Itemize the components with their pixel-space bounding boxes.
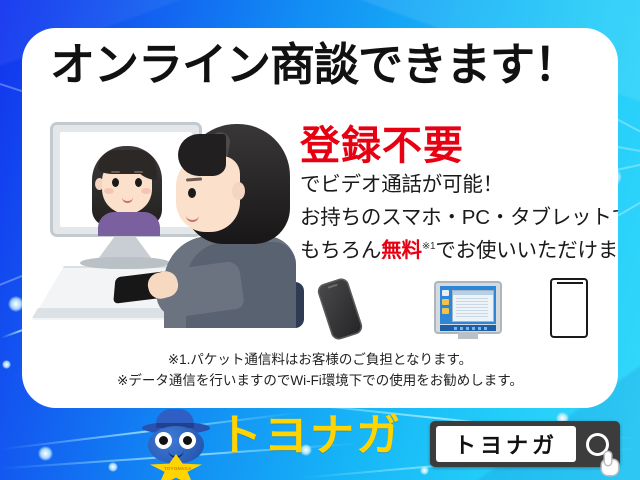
man-eye: [188, 188, 196, 198]
promo-highlight: 登録不要: [300, 124, 614, 168]
monitor-base: [80, 257, 170, 269]
promo-line-3-suffix: でお使いいただけます！: [435, 239, 618, 262]
mouse-cursor-icon: [600, 452, 620, 476]
promo-free-label: 無料: [381, 239, 422, 262]
search-input[interactable]: トヨナガ: [436, 426, 576, 462]
man-side-hair: [178, 134, 226, 176]
woman-eyebrow-left: [111, 171, 120, 173]
brand-logo-text: トヨナガ: [218, 414, 402, 458]
footnote-2: ※データ通信を行いますのでWi-Fi環境下での使用をお勧めします。: [22, 371, 618, 392]
device-icons-row: [314, 278, 604, 340]
promo-line-1: でビデオ通話が可能！: [300, 168, 614, 201]
pc-window-content: [456, 298, 488, 318]
woman-eyebrow-right: [134, 171, 143, 173]
pc-window-titlebar: [453, 291, 493, 295]
mascot-pupil-right: [183, 436, 192, 445]
woman-blush-left: [104, 188, 114, 194]
woman-eye-right: [135, 178, 142, 187]
smartphone-icon: [316, 276, 364, 341]
search-bar[interactable]: トヨナガ: [430, 421, 620, 467]
advertisement-banner: オンライン商談できます！: [0, 0, 640, 480]
pc-window: [452, 290, 494, 322]
page-title: オンライン商談できます！: [50, 42, 606, 87]
mascot-body-label: TOYONAGA: [164, 466, 192, 471]
pc-desktop-icon-3: [442, 308, 449, 314]
woman-torso: [98, 212, 160, 236]
woman-blush-right: [141, 188, 151, 194]
promo-footnote-marker: ※1: [422, 242, 436, 253]
video-call-illustration: [36, 116, 298, 328]
pc-desktop-icon-1: [442, 290, 449, 296]
footnotes: ※1.パケット通信料はお客様のご負担となります。 ※データ通信を行いますのでWi…: [22, 350, 618, 392]
woman-eye-left: [112, 178, 119, 187]
promo-text-block: 登録不要 でビデオ通話が可能！ お持ちのスマホ・PC・タブレットでOK もちろん…: [300, 124, 614, 268]
footnote-1: ※1.パケット通信料はお客様のご負担となります。: [22, 350, 618, 371]
monitor-stand: [98, 237, 152, 259]
cursor-finger: [605, 452, 611, 465]
tablet-icon: [550, 278, 588, 338]
pc-taskbar: [440, 325, 496, 331]
background-dot: [2, 360, 11, 369]
promo-line-3: もちろん無料※1でお使いいただけます！: [300, 234, 614, 267]
pc-stand: [458, 332, 478, 339]
promo-line-2: お持ちのスマホ・PC・タブレットでOK: [300, 201, 614, 234]
desktop-pc-icon: [434, 281, 502, 334]
mascot-pupil-left: [159, 436, 168, 445]
pc-desktop-icon-2: [442, 299, 449, 305]
promo-line-3-prefix: もちろん: [300, 239, 381, 262]
man-ear: [232, 182, 245, 200]
mascot-character: TOYONAGA: [138, 408, 214, 480]
content-card: オンライン商談できます！: [22, 28, 618, 408]
pc-screen: [440, 286, 496, 324]
